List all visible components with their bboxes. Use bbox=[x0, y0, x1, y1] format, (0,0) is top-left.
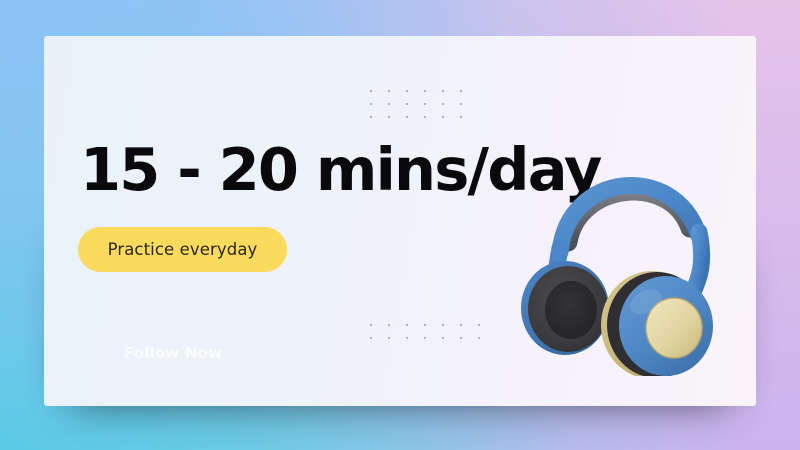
promo-card: 15 - 20 mins/day Practice everyday Follo… bbox=[44, 36, 756, 406]
dot-grid-bottom-decoration bbox=[370, 324, 480, 339]
dot-grid-top-decoration bbox=[370, 90, 462, 118]
practice-everyday-button[interactable]: Practice everyday bbox=[78, 227, 287, 272]
banner-canvas: 15 - 20 mins/day Practice everyday Follo… bbox=[0, 0, 800, 450]
headphones-icon bbox=[494, 116, 744, 376]
follow-now-link[interactable]: Follow Now bbox=[124, 344, 222, 362]
